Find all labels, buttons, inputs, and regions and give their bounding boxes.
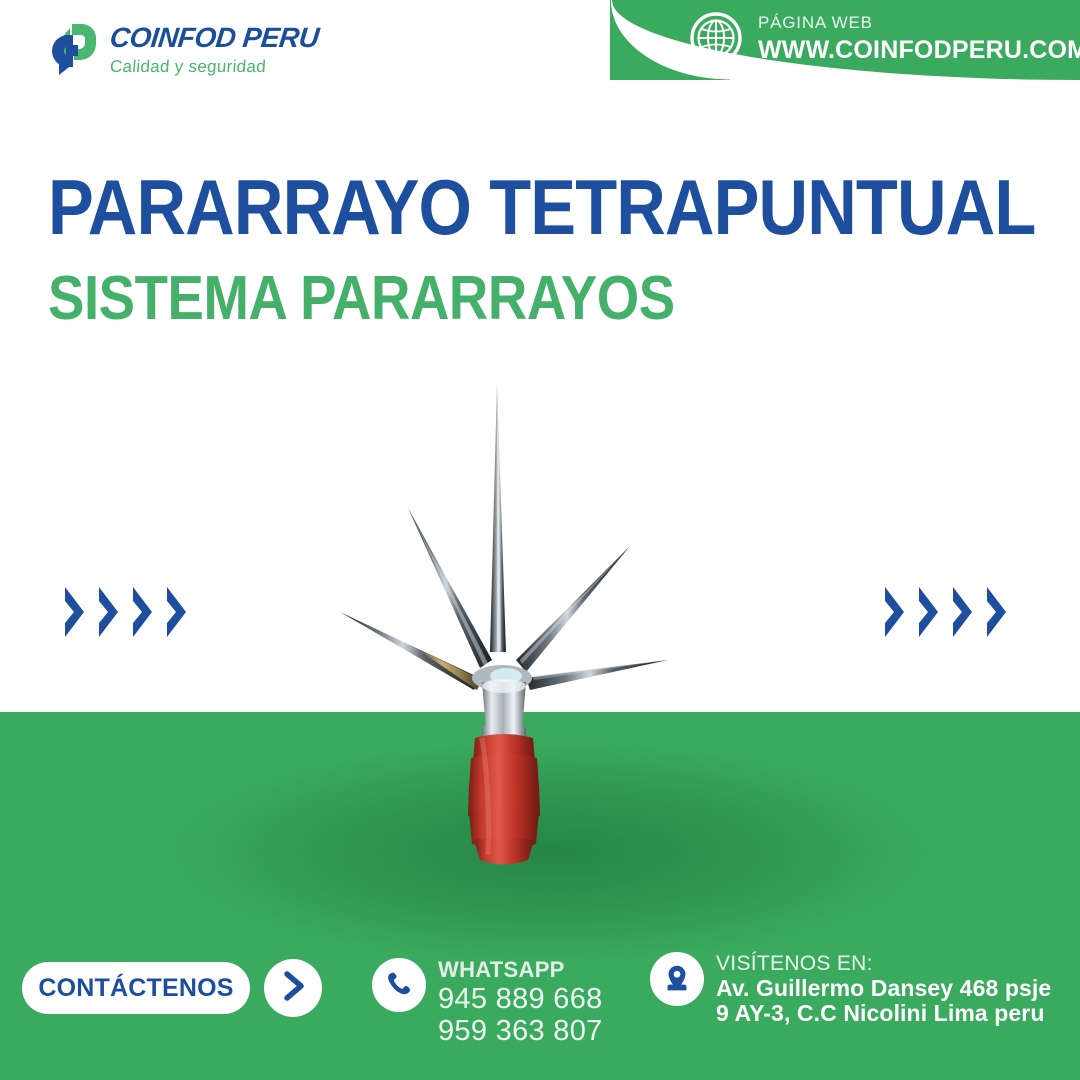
chevron-right-icon	[916, 583, 942, 641]
contact-button-label: CONTÁCTENOS	[38, 974, 233, 1003]
footer-contact-bar: CONTÁCTENOS WHATSAPP 945 889 668 959 363…	[0, 940, 1080, 1055]
contact-arrow-button[interactable]	[264, 959, 322, 1017]
logo-wordmark: COINFOD PERU Calidad y seguridad	[110, 24, 319, 75]
chevron-right-icon	[62, 583, 88, 641]
whatsapp-info[interactable]: WHATSAPP 945 889 668 959 363 807	[372, 958, 603, 1048]
map-pin-icon	[650, 952, 704, 1006]
chevron-right-icon	[96, 583, 122, 641]
logo-tagline: Calidad y seguridad	[109, 58, 319, 75]
chevrons-left	[62, 583, 190, 641]
chevrons-right	[882, 583, 1010, 641]
brand-logo: COINFOD PERU Calidad y seguridad	[38, 18, 319, 80]
address-label: VISÍTENOS EN:	[716, 952, 1051, 976]
globe-icon	[690, 12, 742, 64]
web-url[interactable]: WWW.COINFODPERU.COM	[758, 38, 1080, 63]
address-info[interactable]: VISÍTENOS EN: Av. Guillermo Dansey 468 p…	[650, 952, 1051, 1027]
coinfod-monogram-icon	[38, 18, 100, 80]
whatsapp-label: WHATSAPP	[438, 958, 603, 983]
whatsapp-number-1[interactable]: 945 889 668	[438, 983, 603, 1015]
web-label: PÁGINA WEB	[758, 14, 1080, 31]
phone-icon	[372, 958, 426, 1012]
website-info: PÁGINA WEB WWW.COINFODPERU.COM	[690, 12, 1080, 64]
page-title: PARARRAYO TETRAPUNTUAL	[48, 168, 1035, 246]
chevron-right-circle-icon	[276, 969, 310, 1008]
contact-button[interactable]: CONTÁCTENOS	[22, 962, 250, 1014]
logo-name: COINFOD PERU	[109, 24, 321, 52]
chevron-right-icon	[164, 583, 190, 641]
page-subtitle: SISTEMA PARARRAYOS	[48, 268, 675, 330]
whatsapp-text: WHATSAPP 945 889 668 959 363 807	[438, 958, 603, 1048]
chevron-right-icon	[984, 583, 1010, 641]
website-text: PÁGINA WEB WWW.COINFODPERU.COM	[758, 14, 1080, 63]
address-line-1: Av. Guillermo Dansey 468 psje	[716, 976, 1051, 1002]
chevron-right-icon	[882, 583, 908, 641]
address-text: VISÍTENOS EN: Av. Guillermo Dansey 468 p…	[716, 952, 1051, 1027]
pararrayo-tetrapuntual-image	[330, 360, 730, 880]
chevron-right-icon	[130, 583, 156, 641]
whatsapp-number-2[interactable]: 959 363 807	[438, 1015, 603, 1047]
address-line-2: 9 AY-3, C.C Nicolini Lima peru	[716, 1001, 1051, 1027]
poster-canvas: PÁGINA WEB WWW.COINFODPERU.COM COINFOD P…	[0, 0, 1080, 1080]
chevron-right-icon	[950, 583, 976, 641]
